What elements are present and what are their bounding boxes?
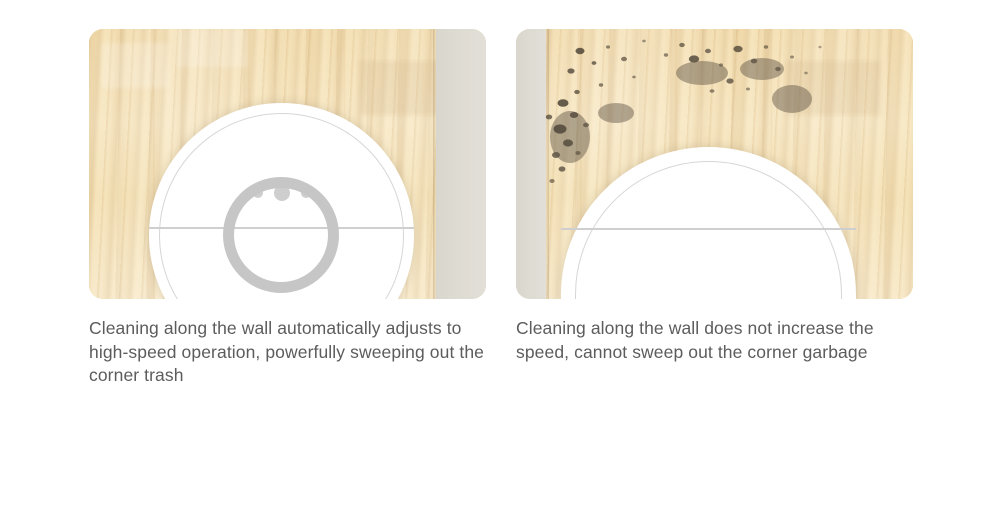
floor-shadow-patch [786,61,881,115]
photo-good-case [89,29,486,299]
comparison-page: Cleaning along the wall automatically ad… [0,0,1000,532]
comparison-panel-bad: Cleaning along the wall does not increas… [516,29,913,405]
wall-strip [516,29,546,299]
photo-bad-case [516,29,913,299]
floor-highlight-patch [176,29,247,67]
caption-bad-case: Cleaning along the wall does not increas… [516,317,913,364]
robot-seam-line [561,228,856,230]
caption-good-case: Cleaning along the wall automatically ad… [89,317,486,388]
comparison-panel-good: Cleaning along the wall automatically ad… [89,29,486,405]
comparison-grid: Cleaning along the wall automatically ad… [89,29,912,405]
floor-highlight-patch [101,43,168,89]
wall-strip [436,29,486,299]
robot-outer-ring [575,161,842,299]
robot-lidar-hub [223,177,339,293]
